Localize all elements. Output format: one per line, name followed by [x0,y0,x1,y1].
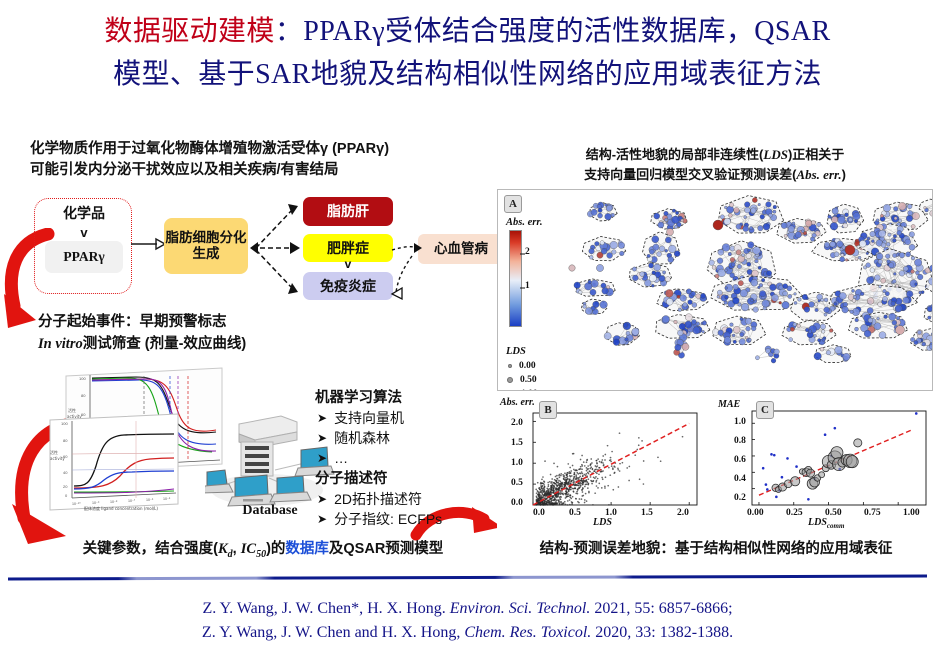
title-line-1: 数据驱动建模：PPARγ受体结合强度的活性数据库，QSAR [0,10,935,53]
right-bottom-caption: 结构-预测误差地貌：基于结构相似性网络的应用域表征 [498,537,934,558]
rd2b: ) [842,167,846,182]
size-dot-icon [506,390,514,391]
size-dot-icon [508,364,512,368]
svg-text:10⁻⁹: 10⁻⁹ [92,501,100,505]
dose-response-figure: 活性 activity (%) 100 80 60 40 20 [48,366,226,516]
abserr-italic: Abs. err. [796,167,841,182]
list-item-label: 分子指纹: ECFPs [334,510,442,530]
ml-methods-list: 机器学习算法 ➤ 支持向量机 ➤ 随机森林 ➤ … 分子描述符 ➤ 2D拓扑描述… [315,388,505,529]
flow-node-immune-inflammation: 免疫炎症 [303,272,393,300]
bullet-arrow-icon: ➤ [317,449,327,469]
panel-a-network-plot: A Abs. err. 2 1 LDS 0.00 0.50 1.00 1.50 [497,189,933,391]
title-line-2: 模型、基于SAR地貌及结构相似性网络的应用域表征方法 [0,53,935,96]
down-chevron-icon-obesity: v [303,258,393,270]
slide-root: 数据驱动建模：PPARγ受体结合强度的活性数据库，QSAR 模型、基于SAR地貌… [0,0,935,659]
flow-node-adipocyte: 脂肪细胞分化生成 [164,218,248,274]
ref1a: Z. Y. Wang, J. W. Chen*, H. X. Hong. [202,600,449,617]
cap-left-c: 及QSAR预测模型 [329,541,443,557]
svg-text:100: 100 [79,376,86,381]
panel-b-scatter-plot: B Abs. err. LDS 2.0 1.5 1.0 0.5 0.0 0.0 … [497,395,702,530]
panel-b-canvas [497,395,702,530]
svg-text:20: 20 [63,484,68,489]
rd1b: )正相关于 [788,147,844,162]
ref1b: 2021, 55: 6857-6866; [590,600,732,617]
panel-a-size-legend-row: 0.00 [508,361,536,371]
bullet-arrow-icon: ➤ [317,510,327,530]
page-title: 数据驱动建模：PPARγ受体结合强度的活性数据库，QSAR 模型、基于SAR地貌… [0,10,935,97]
cap-left-blue: 数据库 [285,541,329,557]
rd1a: 结构-活性地貌的局部非连续性( [586,147,764,162]
panel-a-size-legend-row: 1.00 [506,389,538,391]
bullet-arrow-icon: ➤ [317,409,327,429]
list-item: ➤ … [315,449,505,469]
list-item: ➤ 分子指纹: ECFPs [315,510,505,530]
down-chevron-icon: v [35,226,133,239]
size-value: 0.00 [519,361,536,371]
left-subtitle-line-1: 分子起始事件：早期预警标志 [38,312,368,334]
panel-a-size-legend-row: 0.50 [507,375,537,385]
right-description-line-1: 结构-活性地貌的局部非连续性(LDS)正相关于 [500,145,930,165]
ref1-journal: Environ. Sci. Technol. [450,600,591,617]
ref2-journal: Chem. Res. Toxicol. [464,624,591,641]
title-rest: ：PPARγ受体结合强度的活性数据库，QSAR [275,16,831,47]
list-item: ➤ 随机森林 [315,429,505,449]
flow-label-chemicals: 化学品 [35,205,133,222]
size-value: 0.50 [520,375,537,385]
in-vitro-rest: 测试筛查 (剂量-效应曲线) [83,336,247,352]
size-dot-icon [507,377,513,383]
kd-symbol: K [218,541,228,557]
flow-node-cardiovascular: 心血管病 [418,234,504,264]
panel-a-size-legend-title: LDS [506,346,526,357]
ref2a: Z. Y. Wang, J. W. Chen and H. X. Hong, [202,624,464,641]
flow-label-receptor: PPARγ [45,241,123,273]
bullet-arrow-icon: ➤ [317,429,327,449]
svg-text:10⁻⁶: 10⁻⁶ [146,498,154,502]
list-item: ➤ 2D拓扑描述符 [315,490,505,510]
ml-list-heading-algorithms: 机器学习算法 [315,388,505,409]
svg-text:80: 80 [81,393,86,398]
right-description: 结构-活性地貌的局部非连续性(LDS)正相关于 支持向量回归模型交叉验证预测误差… [500,145,930,184]
cap-left-a: 关键参数，结合强度( [83,541,218,557]
svg-text:60: 60 [63,454,68,459]
rd2a: 支持向量回归模型交叉验证预测误差( [584,167,796,182]
left-description-line-1: 化学物质作用于过氧化物酶体增殖物激活受体γ (PPARγ) [30,139,500,160]
cap-left-b: )的 [266,541,285,557]
ic-sub: 50 [256,549,266,560]
panel-a-network-canvas [560,190,932,388]
flow-node-fatty-liver: 脂肪肝 [303,197,393,226]
size-value: 1.00 [521,389,538,391]
list-item-label: … [334,449,348,469]
flow-arrows-branch [248,200,306,300]
right-description-line-2: 支持向量回归模型交叉验证预测误差(Abs. err.) [500,165,930,185]
svg-text:60: 60 [81,412,86,417]
left-bottom-caption: 关键参数，结合强度(Kd, IC50)的数据库及QSAR预测模型 [28,537,498,560]
ic-symbol: IC [241,541,256,557]
svg-text:10⁻⁸: 10⁻⁸ [110,500,118,504]
flow-arrow-chem-to-adipo [130,236,166,252]
svg-text:40: 40 [63,470,68,475]
svg-text:10⁻¹⁰: 10⁻¹⁰ [72,502,81,506]
title-highlight: 数据驱动建模 [104,16,274,47]
panel-c-canvas [712,395,931,530]
panel-c-tag: C [756,401,774,419]
divider [8,575,927,581]
svg-text:100: 100 [61,421,68,426]
left-subtitle-line-2: In vitro测试筛查 (剂量-效应曲线) [38,334,368,356]
svg-text:80: 80 [63,438,68,443]
panel-b-tag: B [539,401,557,419]
left-description: 化学物质作用于过氧化物酶体增殖物激活受体γ (PPARγ) 可能引发内分泌干扰效… [30,139,500,181]
list-item: ➤ 支持向量机 [315,409,505,429]
cap-comma: , [233,541,241,557]
panel-a-colorbar-ticks-icon [520,252,526,294]
panel-c-bubble-plot: C MAE LDScomm 1.0 0.8 0.6 0.4 0.2 0.00 0… [712,395,931,530]
svg-text:10⁻⁷: 10⁻⁷ [128,499,136,503]
list-item-label: 2D拓扑描述符 [334,490,422,510]
list-item-label: 支持向量机 [334,409,404,429]
svg-text:10⁻⁵: 10⁻⁵ [163,497,171,501]
in-vitro-italic: In vitro [38,336,83,352]
svg-text:活性: 活性 [50,449,58,455]
left-description-line-2: 可能引发内分泌干扰效应以及相关疾病/有害结局 [30,160,500,181]
ml-list-heading-descriptors: 分子描述符 [315,469,505,490]
panel-a-colorbar-title: Abs. err. [506,217,542,228]
svg-text:配体浓度 ligand concentration (mol: 配体浓度 ligand concentration (mol/L) [84,505,158,511]
left-subtitle: 分子起始事件：早期预警标志 In vitro测试筛查 (剂量-效应曲线) [38,312,368,356]
reference-line-2: Z. Y. Wang, J. W. Chen and H. X. Hong, C… [0,621,935,645]
ref2b: 2020, 33: 1382-1388. [591,624,733,641]
references: Z. Y. Wang, J. W. Chen*, H. X. Hong. Env… [0,597,935,645]
aop-flowchart: 化学品 v PPARγ 脂肪细胞分化生成 脂肪肝 肥胖症 v 免疫炎症 心血管病 [18,196,498,311]
svg-text:活性: 活性 [68,407,76,413]
flow-node-chemicals: 化学品 v PPARγ [34,198,132,294]
list-item-label: 随机森林 [334,429,390,449]
bullet-arrow-icon: ➤ [317,490,327,510]
lds-italic: LDS [763,147,788,162]
reference-line-1: Z. Y. Wang, J. W. Chen*, H. X. Hong. Env… [0,597,935,621]
panel-a-tag: A [504,195,522,213]
